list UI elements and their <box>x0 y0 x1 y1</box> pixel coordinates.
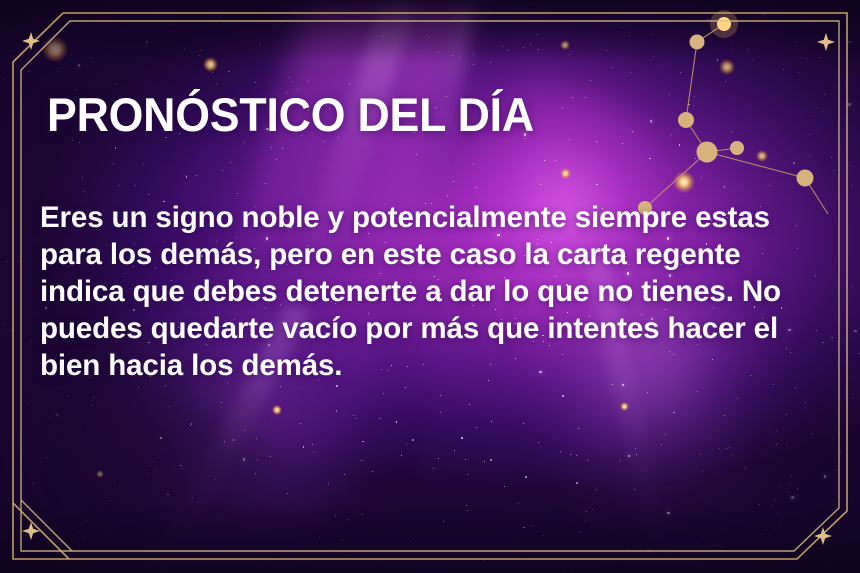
horoscope-card: PRONÓSTICO DEL DÍA Eres un signo noble y… <box>0 0 860 573</box>
body-line: puedes quedarte vacío por más que intent… <box>40 310 806 347</box>
forecast-body: Eres un signo noble y potencialmente sie… <box>40 199 818 384</box>
body-line: bien hacia los demás. <box>40 347 806 384</box>
body-line: Eres un signo noble y potencialmente sie… <box>40 199 806 236</box>
body-line: indica que debes detenerte a dar lo que … <box>40 273 806 310</box>
card-content: PRONÓSTICO DEL DÍA Eres un signo noble y… <box>0 0 860 573</box>
body-line: para los demás, pero en este caso la car… <box>40 236 806 273</box>
page-title: PRONÓSTICO DEL DÍA <box>47 90 534 140</box>
